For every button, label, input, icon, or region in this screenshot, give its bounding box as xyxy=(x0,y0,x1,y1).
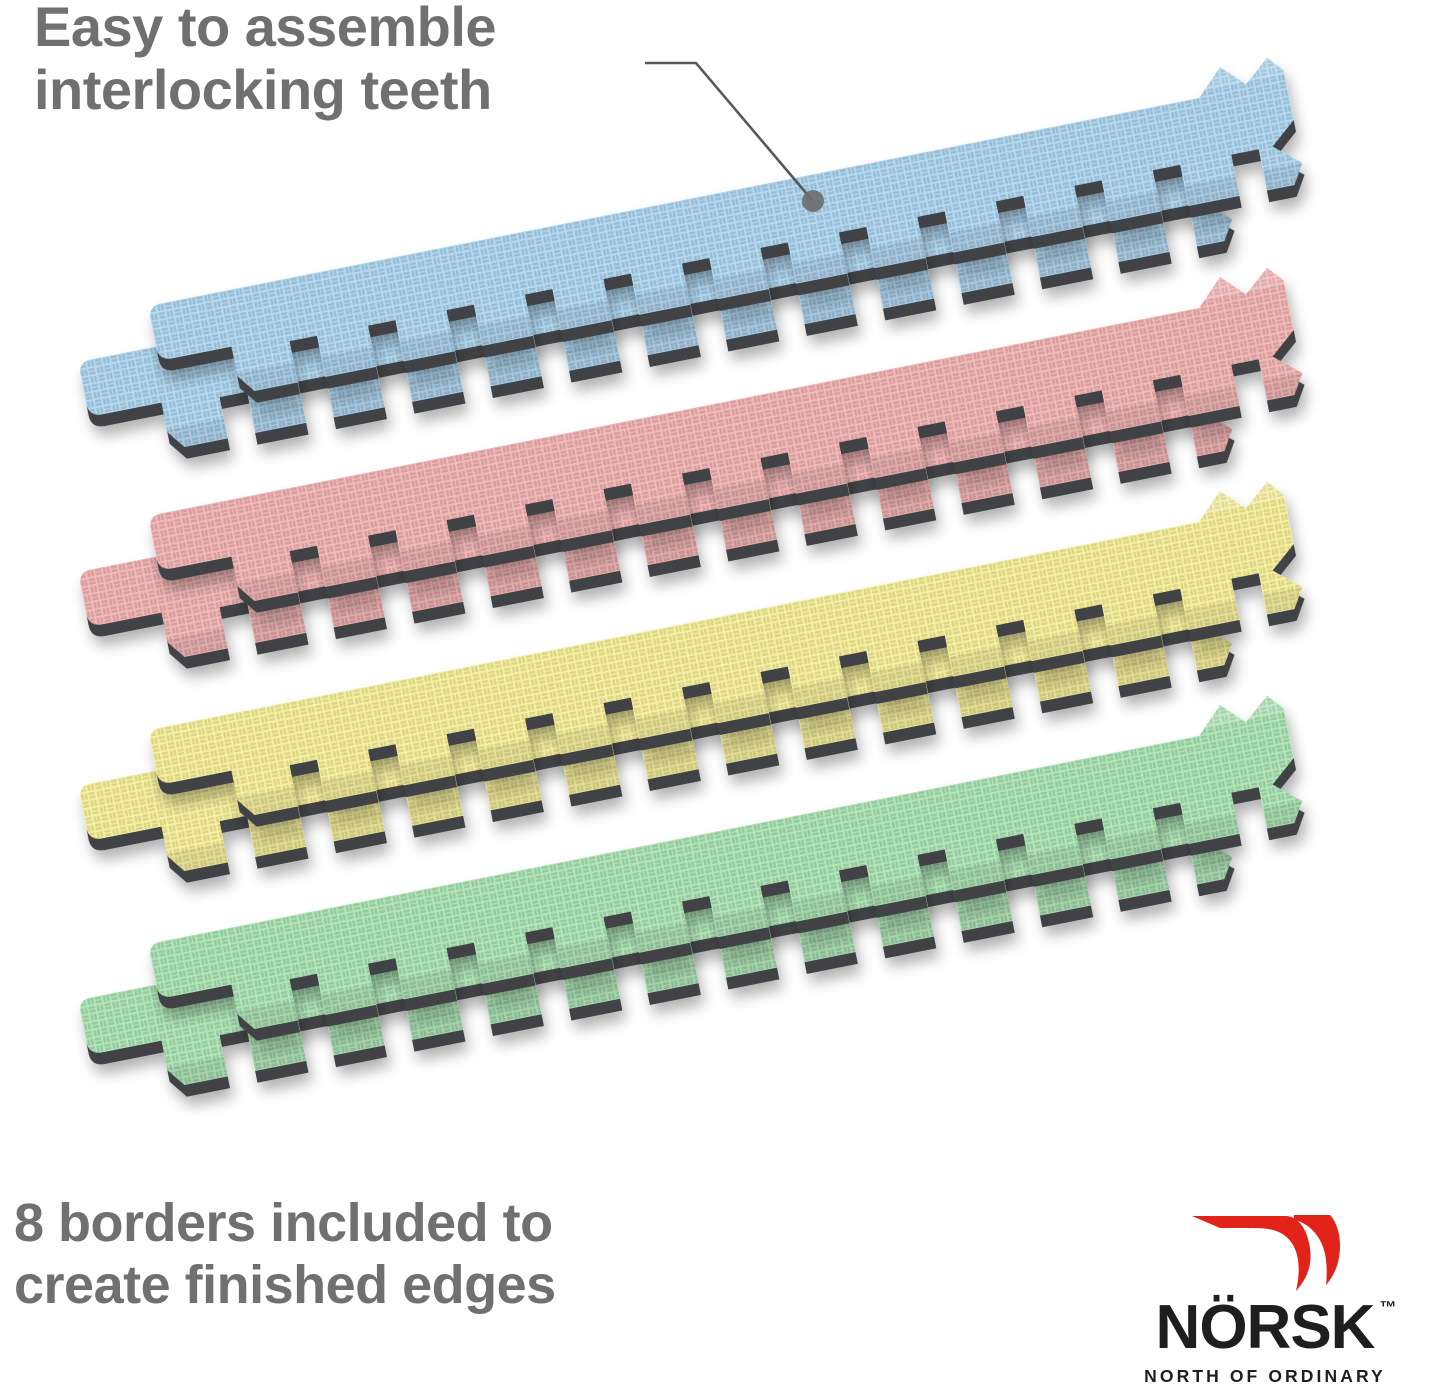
brand-tagline: NORTH OF ORDINARY xyxy=(1115,1366,1415,1387)
foam-border-strips-illustration xyxy=(0,0,1445,1395)
norsk-swoosh-icon xyxy=(1190,1211,1340,1293)
caption-text: 8 borders included to create finished ed… xyxy=(14,1192,754,1316)
trademark-symbol: ™ xyxy=(1379,1299,1396,1316)
brand-logo: NÖRSK ™ NORTH OF ORDINARY xyxy=(1115,1211,1415,1387)
headline-text: Easy to assemble interlocking teeth xyxy=(34,0,674,121)
product-feature-image: Easy to assemble interlocking teeth 8 bo… xyxy=(0,0,1445,1395)
norsk-wordmark-text: NÖRSK xyxy=(1156,1293,1375,1362)
norsk-wordmark: NÖRSK ™ xyxy=(1156,1297,1375,1359)
